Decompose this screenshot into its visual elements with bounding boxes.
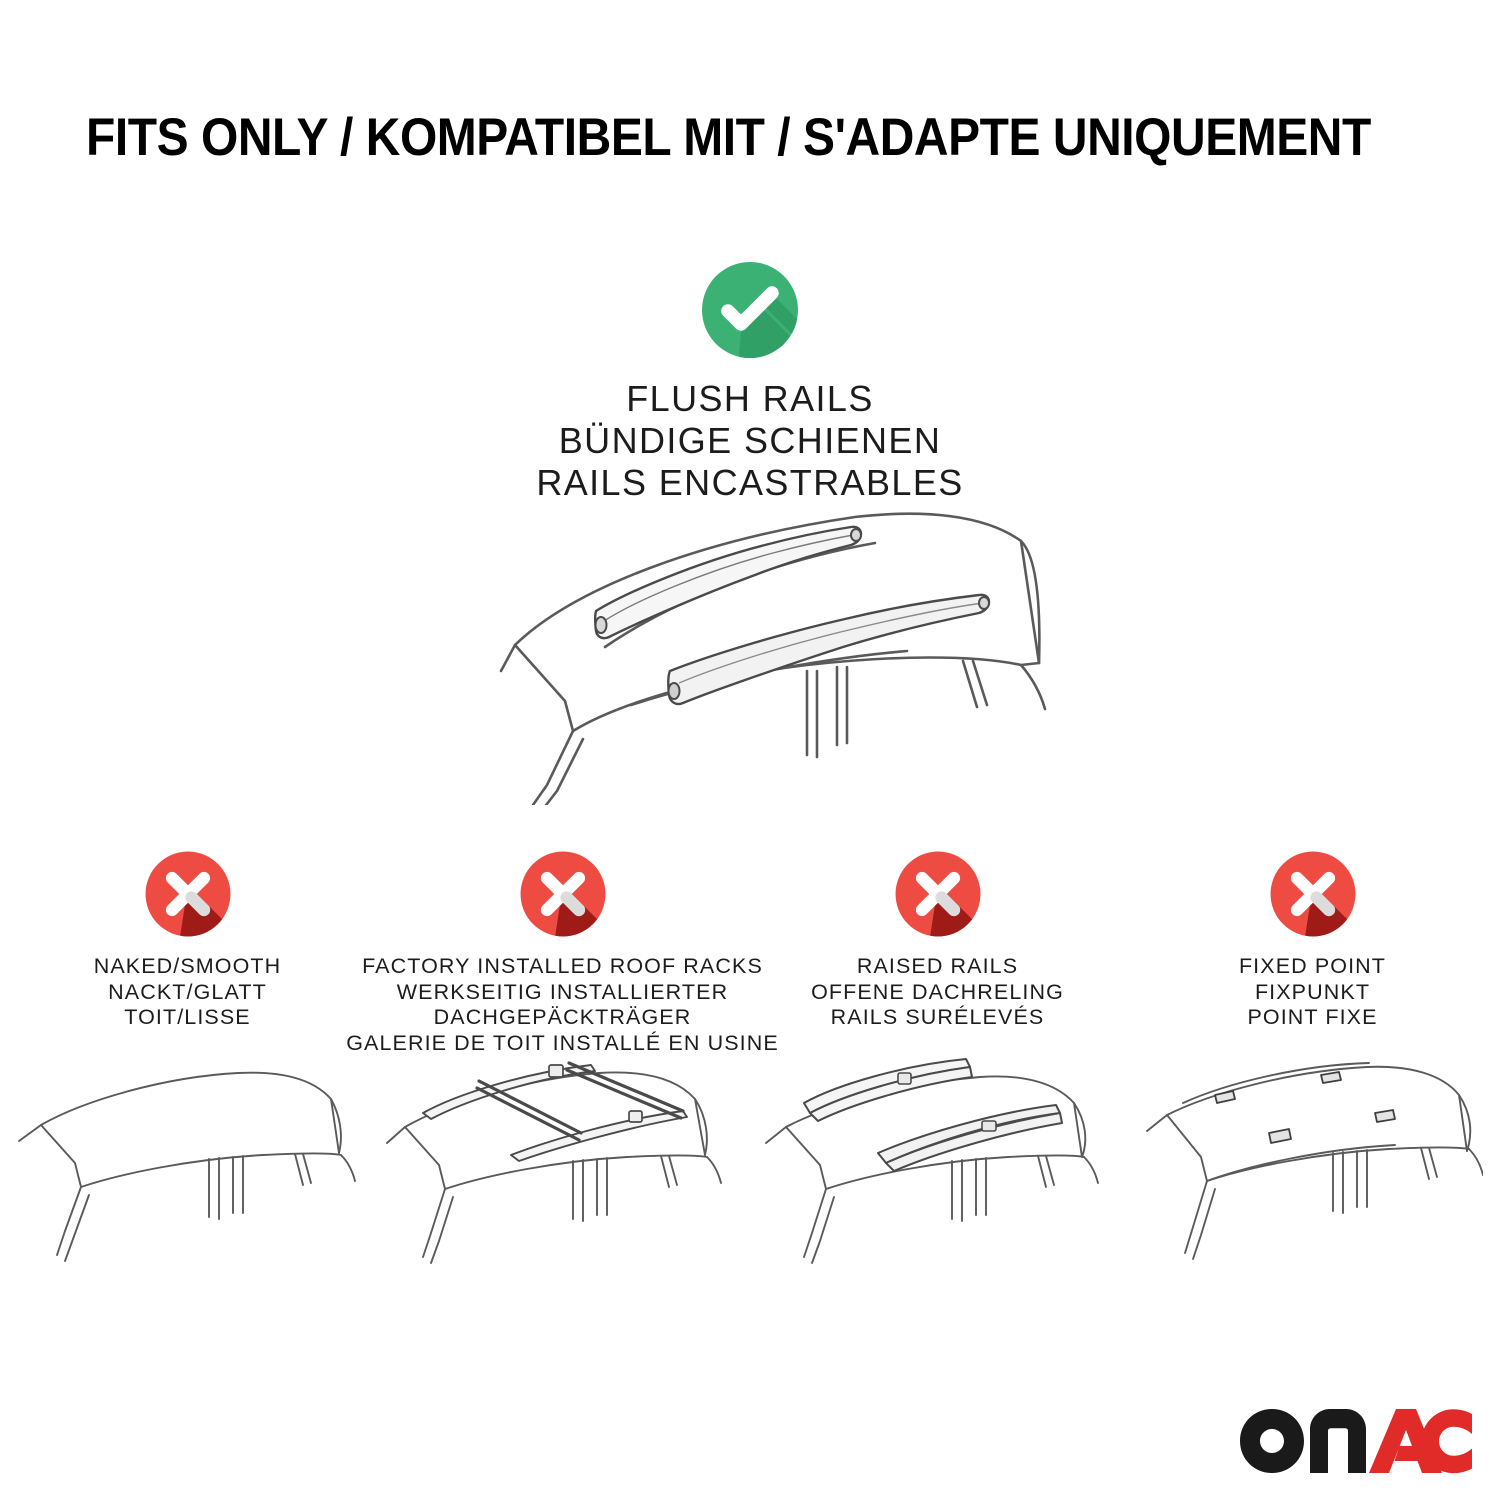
car-roof-fixed-point-illustration xyxy=(1143,1055,1483,1285)
label-line-de: FIXPUNKT xyxy=(1239,980,1386,1006)
art-cell-fixed-point xyxy=(1125,1055,1500,1285)
label-line-fr: GALERIE DE TOIT INSTALLÉ EN USINE xyxy=(346,1031,779,1057)
incompatible-labels: RAISED RAILS OFFENE DACHRELING RAILS SUR… xyxy=(811,954,1064,1031)
compatible-labels: FLUSH RAILS BÜNDIGE SCHIENEN RAILS ENCAS… xyxy=(0,378,1500,504)
label-line-fr: RAILS SURÉLEVÉS xyxy=(811,1005,1064,1031)
incompatible-item-fixed-point: FIXED POINT FIXPUNKT POINT FIXE xyxy=(1125,848,1500,1056)
incompatible-item-naked-smooth: NAKED/SMOOTH NACKT/GLATT TOIT/LISSE xyxy=(0,848,375,1056)
incompatible-labels: NAKED/SMOOTH NACKT/GLATT TOIT/LISSE xyxy=(94,954,282,1031)
incompatible-illustrations-row xyxy=(0,1055,1500,1285)
incompatible-labels: FACTORY INSTALLED ROOF RACKS WERKSEITIG … xyxy=(346,954,779,1056)
label-line-en: NAKED/SMOOTH xyxy=(94,954,282,980)
red-cross-circle-icon xyxy=(1267,848,1359,940)
label-line-en: RAISED RAILS xyxy=(811,954,1064,980)
label-line-de-2: DACHGEPÄCKTRÄGER xyxy=(346,1005,779,1031)
compatible-section: FLUSH RAILS BÜNDIGE SCHIENEN RAILS ENCAS… xyxy=(0,258,1500,504)
art-cell-raised-rails xyxy=(750,1055,1125,1285)
label-line-de: OFFENE DACHRELING xyxy=(811,980,1064,1006)
compatible-label-en: FLUSH RAILS xyxy=(0,378,1500,420)
car-roof-naked-illustration xyxy=(13,1055,363,1285)
incompatible-labels: FIXED POINT FIXPUNKT POINT FIXE xyxy=(1239,954,1386,1031)
logo-letter-m xyxy=(1310,1409,1366,1473)
car-roof-factory-racks-illustration xyxy=(383,1055,743,1285)
incompatible-item-raised-rails: RAISED RAILS OFFENE DACHRELING RAILS SUR… xyxy=(750,848,1125,1056)
label-line-fr: POINT FIXE xyxy=(1239,1005,1386,1031)
incompatible-section: NAKED/SMOOTH NACKT/GLATT TOIT/LISSE FACT… xyxy=(0,848,1500,1056)
incompatible-item-factory-installed-roof-racks: FACTORY INSTALLED ROOF RACKS WERKSEITIG … xyxy=(375,848,750,1056)
label-line-fr: TOIT/LISSE xyxy=(94,1005,282,1031)
art-cell-naked xyxy=(0,1055,375,1285)
red-cross-circle-icon xyxy=(517,848,609,940)
red-cross-circle-icon xyxy=(892,848,984,940)
label-line-de-1: WERKSEITIG INSTALLIERTER xyxy=(346,980,779,1006)
car-roof-flush-rails-illustration xyxy=(455,495,1055,805)
omac-logo xyxy=(1236,1405,1472,1477)
green-check-circle-icon xyxy=(698,258,802,362)
label-line-en: FACTORY INSTALLED ROOF RACKS xyxy=(346,954,779,980)
compatible-label-de: BÜNDIGE SCHIENEN xyxy=(0,420,1500,462)
label-line-de: NACKT/GLATT xyxy=(94,980,282,1006)
label-line-en: FIXED POINT xyxy=(1239,954,1386,980)
art-cell-factory-racks xyxy=(375,1055,750,1285)
page-title: FITS ONLY / KOMPATIBEL MIT / S'ADAPTE UN… xyxy=(86,108,1299,168)
car-roof-raised-rails-illustration xyxy=(760,1055,1115,1285)
red-cross-circle-icon xyxy=(142,848,234,940)
logo-letter-o xyxy=(1240,1409,1304,1473)
